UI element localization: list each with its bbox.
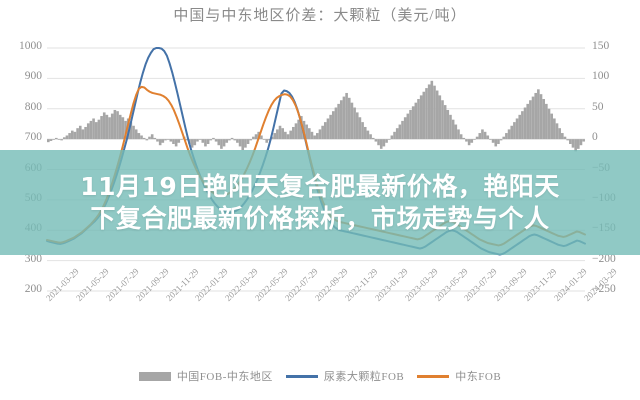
- legend-bar-swatch-icon: [139, 372, 171, 381]
- bar: [289, 131, 292, 140]
- bar: [353, 108, 356, 140]
- bar: [449, 115, 452, 139]
- bar: [486, 135, 489, 139]
- bar: [233, 139, 236, 140]
- bar: [433, 86, 436, 139]
- bar: [521, 111, 524, 139]
- bar: [239, 139, 242, 146]
- bar: [119, 115, 122, 139]
- bar: [356, 112, 359, 139]
- bar: [476, 137, 479, 139]
- bar: [159, 139, 162, 145]
- bar: [79, 126, 82, 139]
- bar: [178, 139, 181, 143]
- bar: [138, 133, 141, 139]
- bar: [199, 139, 202, 140]
- bar: [489, 139, 492, 140]
- bar: [100, 116, 103, 139]
- bar: [367, 131, 370, 140]
- bar: [524, 108, 527, 140]
- bar: [321, 126, 324, 139]
- bar: [292, 127, 295, 139]
- bar: [508, 129, 511, 139]
- bar: [505, 133, 508, 139]
- bar: [313, 135, 316, 139]
- bar: [47, 139, 50, 142]
- bar: [452, 120, 455, 139]
- bar: [470, 139, 473, 143]
- bar: [399, 125, 402, 140]
- bar: [241, 139, 244, 150]
- y-axis-left-tick: 200: [0, 283, 42, 295]
- bar: [441, 100, 444, 139]
- bar: [63, 137, 66, 139]
- bar: [281, 128, 284, 139]
- screenshot-root: 中国与中东地区价差：大颗粒（美元/吨） 10009008007006005004…: [0, 0, 640, 400]
- bar: [217, 139, 220, 145]
- bar: [92, 118, 95, 139]
- bar: [351, 103, 354, 139]
- legend-item[interactable]: 尿素大颗粒FOB: [286, 368, 404, 384]
- y-axis-right-tick: 50: [592, 101, 636, 113]
- bar: [164, 139, 167, 140]
- bar: [68, 133, 71, 139]
- bar: [345, 93, 348, 139]
- bar: [457, 129, 460, 139]
- legend-label: 尿素大颗粒FOB: [324, 368, 404, 384]
- bar: [279, 126, 282, 139]
- bar: [297, 120, 300, 139]
- bar: [417, 99, 420, 139]
- bar: [460, 134, 463, 139]
- bar: [425, 88, 428, 139]
- bar: [167, 139, 170, 140]
- bar: [431, 81, 434, 139]
- bar: [409, 110, 412, 139]
- bar: [276, 129, 279, 139]
- bar: [249, 139, 252, 140]
- bar: [364, 127, 367, 139]
- bar: [335, 108, 338, 140]
- bar: [513, 122, 516, 139]
- bar: [265, 139, 268, 143]
- bar: [473, 139, 476, 140]
- bar: [553, 118, 556, 139]
- bar: [255, 134, 258, 139]
- bar: [116, 111, 119, 139]
- bar: [561, 133, 564, 139]
- bar: [465, 139, 468, 141]
- bar: [377, 139, 380, 145]
- bar: [327, 118, 330, 139]
- bar: [383, 139, 386, 146]
- bar: [532, 97, 535, 140]
- bar: [494, 139, 497, 146]
- bar: [516, 118, 519, 139]
- bar: [324, 122, 327, 139]
- bar: [329, 115, 332, 139]
- y-axis-left-tick: 700: [0, 131, 42, 143]
- y-axis-right-tick: 150: [592, 40, 636, 52]
- bar: [146, 139, 149, 140]
- bar: [84, 127, 87, 139]
- overlay-text-line-2: 下复合肥最新价格探析，市场走势与个人: [90, 203, 549, 234]
- bar: [95, 122, 98, 139]
- chart-legend: 中国FOB-中东地区尿素大颗粒FOB中东FOB: [0, 368, 640, 384]
- bar: [569, 139, 572, 144]
- bar: [172, 139, 175, 144]
- bar: [52, 139, 55, 140]
- bar: [76, 128, 79, 139]
- bar: [50, 139, 53, 141]
- bar: [260, 135, 263, 139]
- bar: [111, 114, 114, 140]
- bar: [332, 111, 335, 139]
- bar: [132, 126, 135, 139]
- bar: [175, 139, 178, 146]
- bar: [244, 139, 247, 148]
- y-axis-left-tick: 1000: [0, 40, 42, 52]
- bar: [385, 139, 388, 143]
- bar: [375, 139, 378, 141]
- bar: [407, 114, 410, 140]
- bar: [564, 137, 567, 139]
- bar: [103, 112, 106, 139]
- legend-label: 中国FOB-中东地区: [177, 368, 273, 384]
- bar: [191, 139, 194, 148]
- bar: [247, 139, 250, 144]
- bar: [401, 121, 404, 139]
- bar: [215, 139, 218, 141]
- bar: [319, 129, 322, 139]
- legend-item[interactable]: 中国FOB-中东地区: [139, 368, 273, 384]
- bar: [556, 123, 559, 139]
- bar: [170, 139, 173, 141]
- bar: [478, 133, 481, 139]
- bar: [287, 134, 290, 139]
- bar: [462, 138, 465, 139]
- bar: [263, 139, 266, 140]
- bar: [558, 128, 561, 139]
- bar: [196, 139, 199, 141]
- bar: [284, 132, 287, 139]
- bar: [231, 138, 234, 139]
- bar: [316, 133, 319, 139]
- bar: [295, 123, 298, 139]
- bar: [340, 100, 343, 139]
- bar: [228, 139, 231, 140]
- bar: [534, 93, 537, 139]
- bar: [87, 123, 90, 139]
- bar: [225, 139, 228, 143]
- bar: [201, 139, 204, 143]
- bar: [58, 139, 61, 140]
- bar: [55, 138, 58, 139]
- bar: [154, 138, 157, 139]
- bar: [108, 117, 111, 139]
- bar: [273, 133, 276, 139]
- bar: [74, 132, 77, 139]
- bar: [212, 138, 215, 139]
- bar: [106, 115, 109, 139]
- bar: [500, 139, 503, 140]
- bar: [412, 106, 415, 139]
- bar: [223, 139, 226, 146]
- bar: [436, 91, 439, 140]
- bar: [114, 110, 117, 139]
- bar: [492, 139, 495, 143]
- bar: [548, 109, 551, 139]
- bar: [343, 97, 346, 140]
- bar: [518, 115, 521, 139]
- bar: [204, 139, 207, 146]
- bar: [122, 117, 125, 139]
- bar: [156, 139, 159, 141]
- bar: [60, 139, 63, 140]
- y-axis-left-tick: 800: [0, 101, 42, 113]
- bar: [444, 105, 447, 139]
- bar: [580, 139, 583, 145]
- bar: [372, 138, 375, 139]
- bar: [348, 98, 351, 139]
- bar: [481, 129, 484, 139]
- bar: [207, 139, 210, 144]
- bar: [572, 139, 575, 148]
- legend-item[interactable]: 中东FOB: [417, 368, 501, 384]
- overlay-banner-text: 11月19日艳阳天复合肥最新价格，艳阳天 下复合肥最新价格探析，市场走势与个人: [0, 150, 640, 255]
- bar: [359, 117, 362, 139]
- bar: [455, 125, 458, 140]
- bar: [140, 135, 143, 139]
- bar: [71, 131, 74, 140]
- bar: [391, 135, 394, 139]
- bar: [151, 134, 154, 139]
- bar: [545, 104, 548, 139]
- bar: [180, 139, 183, 140]
- bar: [252, 137, 255, 139]
- bar: [497, 139, 500, 144]
- bar: [162, 139, 165, 143]
- bar: [404, 117, 407, 139]
- bar: [526, 104, 529, 139]
- bar: [550, 114, 553, 140]
- bar: [415, 103, 418, 139]
- bar: [420, 95, 423, 139]
- bar: [143, 138, 146, 139]
- bar: [537, 89, 540, 139]
- bar: [510, 126, 513, 139]
- bar: [98, 120, 101, 139]
- bar: [193, 139, 196, 145]
- bar: [566, 139, 569, 140]
- bar: [135, 129, 138, 139]
- bar: [428, 84, 431, 139]
- bar: [582, 139, 585, 141]
- bar: [308, 128, 311, 139]
- bar: [439, 95, 442, 139]
- bar: [369, 134, 372, 139]
- legend-label: 中东FOB: [455, 368, 501, 384]
- bar: [396, 128, 399, 139]
- bar: [66, 135, 69, 139]
- y-axis-left-tick: 900: [0, 70, 42, 82]
- bar: [337, 104, 340, 139]
- bar: [540, 94, 543, 139]
- legend-line-swatch-icon: [417, 375, 449, 378]
- bar: [236, 139, 239, 143]
- bar: [577, 139, 580, 149]
- bar: [529, 100, 532, 139]
- bar: [148, 137, 151, 139]
- bar: [468, 139, 471, 145]
- bar: [393, 132, 396, 139]
- y-axis-right-tick: 100: [592, 70, 636, 82]
- bar: [220, 139, 223, 149]
- y-axis-right-tick: 0: [592, 131, 636, 143]
- bar: [447, 110, 450, 139]
- bar: [361, 122, 364, 139]
- bar: [82, 129, 85, 139]
- bar: [380, 139, 383, 149]
- bar: [542, 99, 545, 139]
- legend-line-swatch-icon: [286, 375, 318, 378]
- bar: [388, 139, 391, 140]
- bar: [209, 139, 212, 140]
- bar: [90, 121, 93, 139]
- bar: [502, 137, 505, 139]
- bar: [484, 132, 487, 139]
- bar: [311, 132, 314, 139]
- overlay-text-line-1: 11月19日艳阳天复合肥最新价格，艳阳天: [80, 171, 560, 202]
- bar: [423, 92, 426, 139]
